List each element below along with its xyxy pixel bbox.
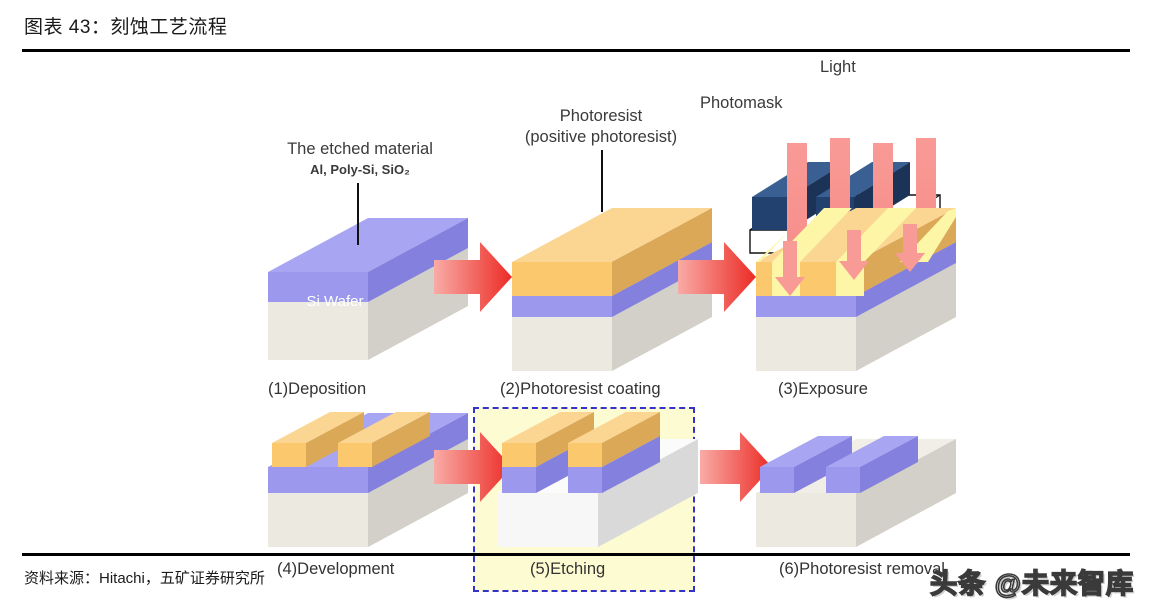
step-5-etching-illustration (498, 412, 698, 547)
step-2-caption: (2)Photoresist coating (500, 380, 661, 399)
step-5-caption: (5)Etching (530, 560, 605, 579)
annotation-photoresist-line1: Photoresist (481, 107, 721, 126)
page-title: 图表 43：刻蚀工艺流程 (24, 12, 227, 39)
step-4-caption: (4)Development (277, 560, 394, 579)
annotation-light: Light (820, 58, 856, 77)
step-3-caption: (3)Exposure (778, 380, 868, 399)
source-note: 资料来源：Hitachi，五矿证券研究所 (24, 567, 265, 588)
watermark-logo: 头条 @未来智库 (930, 562, 1134, 601)
header-divider-rule (22, 49, 1130, 52)
annotation-etched-material-line1: The etched material (230, 140, 490, 159)
annotation-photoresist-line2: (positive photoresist) (461, 128, 741, 147)
annotation-photomask: Photomask (700, 94, 783, 113)
step-6-caption: (6)Photoresist removal (779, 560, 945, 579)
annotation-etched-material-line2: Al, Poly-Si, SiO₂ (230, 162, 490, 177)
leader-line-etched-material (357, 183, 359, 245)
step-6-photoresist-removal-illustration (756, 436, 956, 547)
step-3-exposure-illustration (750, 138, 956, 371)
footer-divider-rule (22, 553, 1130, 556)
step-1-caption: (1)Deposition (268, 380, 366, 399)
annotation-si-wafer: Si Wafer (275, 293, 395, 310)
etching-process-flow-diagram: The etched material Al, Poly-Si, SiO₂ Si… (0, 55, 1152, 553)
leader-line-photoresist (601, 150, 603, 212)
